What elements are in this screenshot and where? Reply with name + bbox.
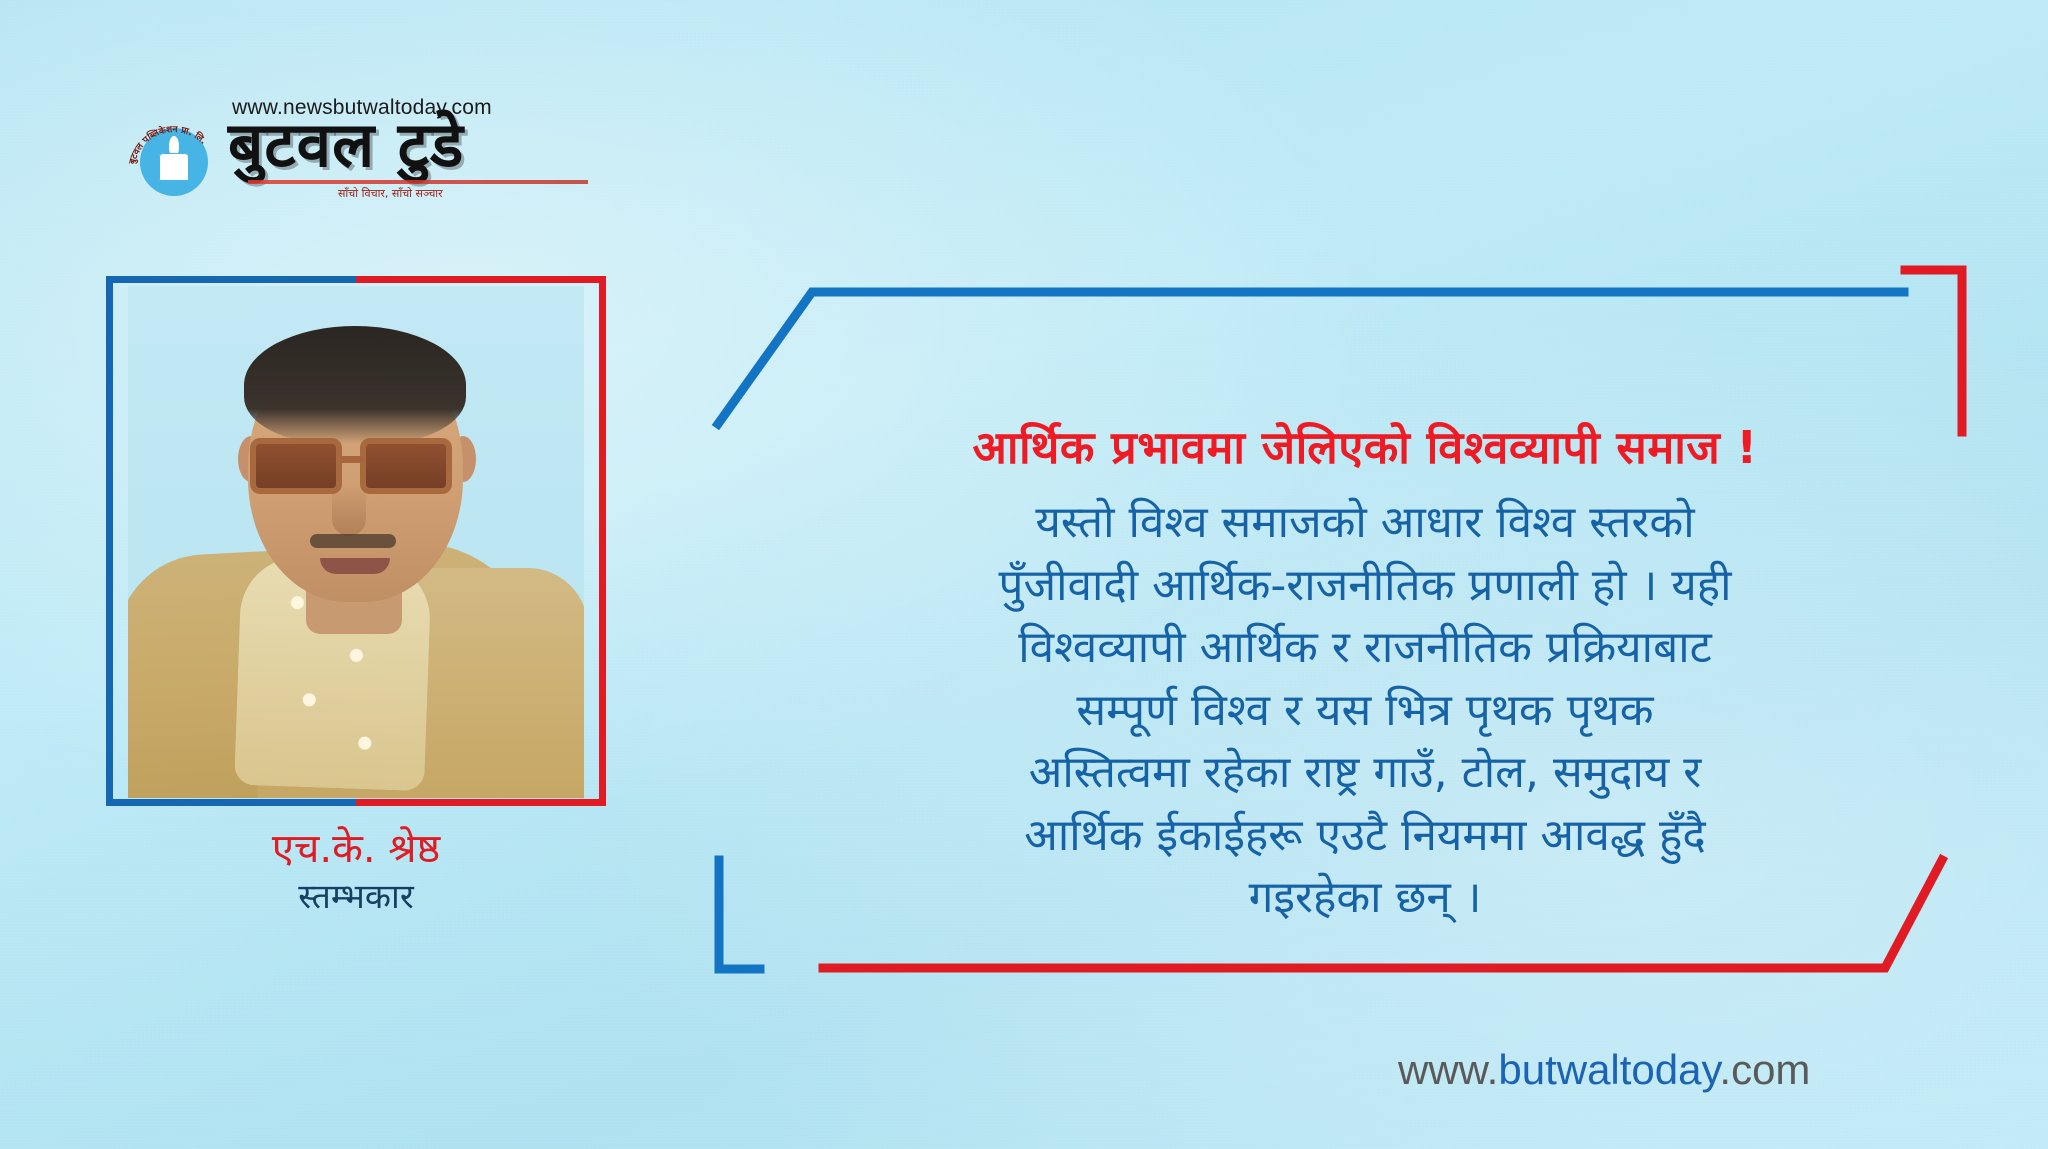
footer-url-prefix: www.: [1398, 1046, 1498, 1093]
svg-text:बुटवल पब्लिकेशन प्रा. लि.: बुटवल पब्लिकेशन प्रा. लि.: [128, 124, 208, 167]
author-name: एच.के. श्रेष्ठ: [106, 826, 606, 872]
article-body-line: गइरहेका छन् ।: [830, 867, 1900, 929]
article-body-line: पुँजीवादी आर्थिक-राजनीतिक प्रणाली हो । य…: [830, 555, 1900, 617]
portrait-moustache: [310, 534, 396, 548]
article-body-line: विश्वव्यापी आर्थिक र राजनीतिक प्रक्रियाब…: [830, 617, 1900, 679]
author-role: स्तम्भकार: [106, 876, 606, 919]
article-headline: आर्थिक प्रभावमा जेलिएको विश्वव्यापी समाज…: [830, 420, 1900, 476]
sunglass-lens-right: [360, 438, 452, 494]
sunglass-lens-left: [250, 438, 342, 494]
emblem-arc-text: बुटवल पब्लिकेशन प्रा. लि.: [128, 118, 220, 204]
article-body-line: यस्तो विश्व समाजको आधार विश्व स्तरको: [830, 492, 1900, 554]
article-body: यस्तो विश्व समाजको आधार विश्व स्तरकोपुँज…: [830, 492, 1900, 929]
logo-wordmark: बुटवल टुडे: [228, 114, 464, 176]
footer-url-suffix: .com: [1719, 1046, 1810, 1093]
site-logo[interactable]: बुटवल पब्लिकेशन प्रा. लि. www.newsbutwal…: [128, 96, 588, 206]
portrait-hair: [244, 326, 466, 444]
logo-tagline: साँचो विचार, साँचो सञ्चार: [338, 186, 443, 201]
portrait-mouth: [320, 558, 390, 574]
footer-url-brand: butwaltoday: [1498, 1046, 1719, 1093]
portrait-sunglasses-icon: [248, 432, 470, 502]
article-body-line: आर्थिक ईकाईहरू एउटै नियममा आवद्ध हुँदै: [830, 805, 1900, 867]
frame-bottom-left-blue: [719, 860, 760, 969]
footer-site-url[interactable]: www.butwaltoday.com: [1398, 1046, 1810, 1094]
logo-underline-rule: [248, 180, 588, 184]
frame-top-right-red: [1905, 270, 1962, 298]
publisher-emblem-icon: बुटवल पब्लिकेशन प्रा. लि.: [128, 118, 220, 204]
frame-top-left-blue: [718, 292, 1904, 424]
article-body-line: अस्तित्वमा रहेका राष्ट्र गाउँ, टोल, समुद…: [830, 742, 1900, 804]
poster-canvas: बुटवल पब्लिकेशन प्रा. लि. www.newsbutwal…: [0, 0, 2048, 1149]
author-portrait-image: [128, 286, 584, 798]
article-body-line: सम्पूर्ण विश्व र यस भित्र पृथक पृथक: [830, 680, 1900, 742]
author-caption: एच.के. श्रेष्ठ स्तम्भकार: [106, 826, 606, 919]
article-content: आर्थिक प्रभावमा जेलिएको विश्वव्यापी समाज…: [830, 420, 1900, 930]
author-photo-frame: [106, 276, 606, 806]
emblem-arc-label: बुटवल पब्लिकेशन प्रा. लि.: [128, 124, 208, 167]
